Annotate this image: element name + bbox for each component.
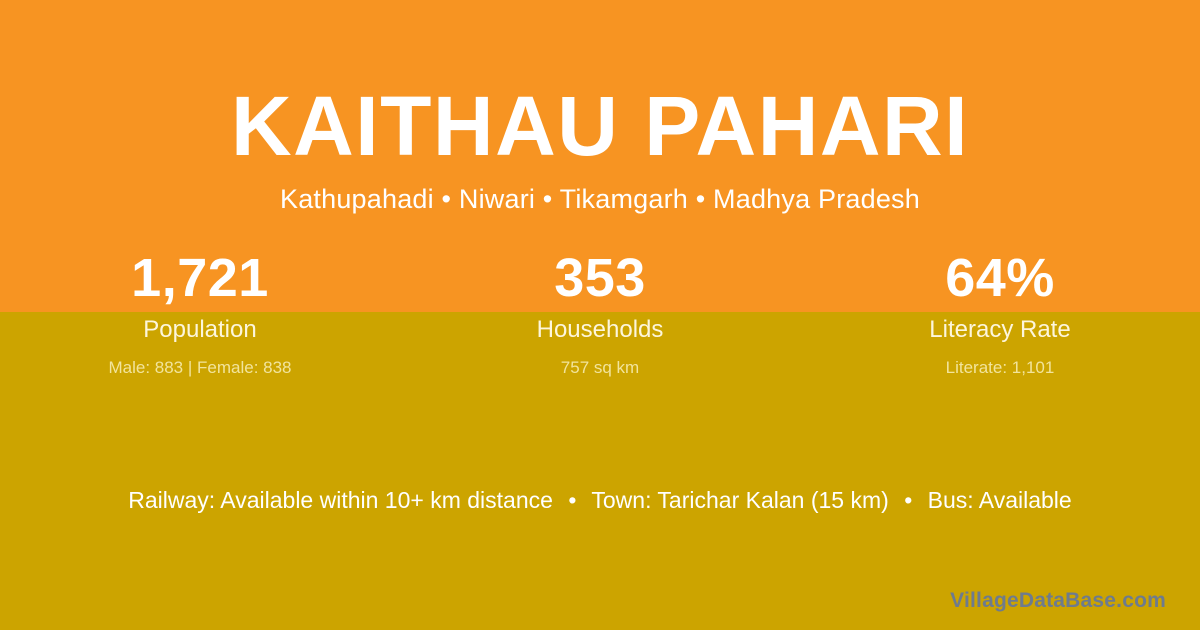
site-watermark: VillageDataBase.com [950, 588, 1166, 614]
facility-bus: Bus: Available [928, 487, 1072, 513]
stats-row: 1,721 Population Male: 883 | Female: 838… [0, 245, 1200, 379]
stat-value-literacy-rate: 64% [800, 245, 1200, 312]
stat-sub-population: Male: 883 | Female: 838 [0, 357, 400, 379]
stat-value-population: 1,721 [0, 245, 400, 312]
stat-households: 353 Households 757 sq km [400, 245, 800, 379]
breadcrumb: Kathupahadi • Niwari • Tikamgarh • Madhy… [0, 183, 1200, 215]
facility-town: Town: Tarichar Kalan (15 km) [591, 487, 888, 513]
stat-label-population: Population [0, 315, 400, 345]
stat-sub-literacy-rate: Literate: 1,101 [800, 357, 1200, 379]
facility-railway: Railway: Available within 10+ km distanc… [128, 487, 553, 513]
stat-label-households: Households [400, 315, 800, 345]
stat-literacy-rate: 64% Literacy Rate Literate: 1,101 [800, 245, 1200, 379]
page-title: KAITHAU PAHARI [0, 84, 1200, 168]
stat-value-households: 353 [400, 245, 800, 312]
village-info-card: KAITHAU PAHARI Kathupahadi • Niwari • Ti… [0, 0, 1200, 630]
facility-separator-2: • [895, 485, 921, 515]
facility-separator-1: • [559, 485, 585, 515]
stat-population: 1,721 Population Male: 883 | Female: 838 [0, 245, 400, 379]
facilities-line: Railway: Available within 10+ km distanc… [0, 485, 1200, 515]
stat-sub-households: 757 sq km [400, 357, 800, 379]
stat-label-literacy-rate: Literacy Rate [800, 315, 1200, 345]
